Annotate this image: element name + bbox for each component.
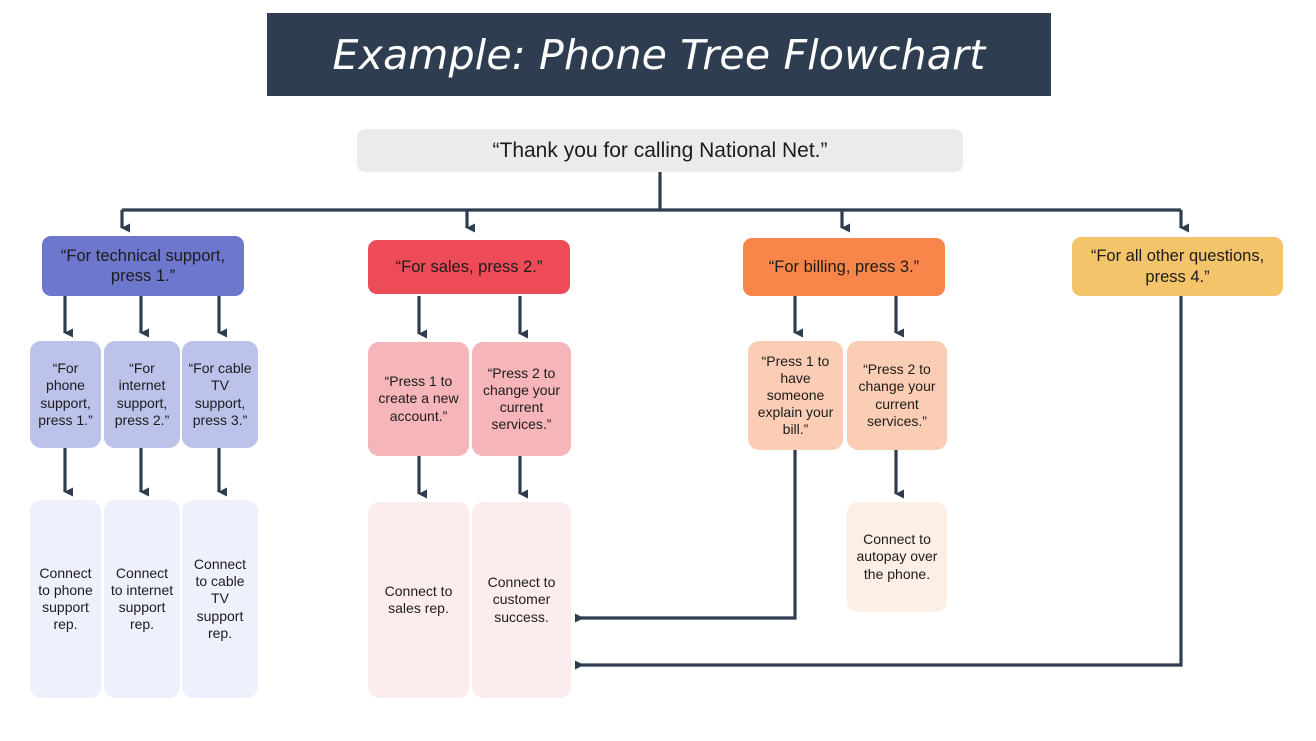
option-node-internet-support[interactable]: “For internet support, press 2.”	[104, 341, 180, 448]
branch-label-other-questions: “For all other questions, press 4.”	[1078, 246, 1277, 286]
outcome-node-sales-rep[interactable]: Connect to sales rep.	[368, 502, 469, 698]
outcome-label-sales-rep: Connect to sales rep.	[374, 583, 463, 617]
option-label-new-account: “Press 1 to create a new account.”	[374, 373, 463, 424]
option-node-new-account[interactable]: “Press 1 to create a new account.”	[368, 342, 469, 456]
outcome-node-customer-success[interactable]: Connect to customer success.	[472, 502, 571, 698]
root-node-label: “Thank you for calling National Net.”	[363, 138, 957, 164]
option-node-cable-tv-support[interactable]: “For cable TV support, press 3.”	[182, 341, 258, 448]
branch-label-technical-support: “For technical support, press 1.”	[48, 246, 238, 286]
option-node-explain-bill[interactable]: “Press 1 to have someone explain your bi…	[748, 341, 843, 450]
outcome-label-cable-tv-support-rep: Connect to cable TV support rep.	[188, 556, 252, 641]
option-label-change-services-billing: “Press 2 to change your current services…	[853, 361, 941, 429]
option-label-phone-support: “For phone support, press 1.”	[36, 360, 95, 428]
option-label-change-services-sales: “Press 2 to change your current services…	[478, 365, 565, 433]
outcome-label-phone-support-rep: Connect to phone support rep.	[36, 565, 95, 633]
option-node-change-services-sales[interactable]: “Press 2 to change your current services…	[472, 342, 571, 456]
flowchart-canvas: Example: Phone Tree Flowchart	[0, 0, 1316, 741]
option-label-explain-bill: “Press 1 to have someone explain your bi…	[754, 353, 837, 438]
branch-node-technical-support[interactable]: “For technical support, press 1.”	[42, 236, 244, 296]
outcome-label-autopay: Connect to autopay over the phone.	[853, 531, 941, 582]
outcome-node-autopay[interactable]: Connect to autopay over the phone.	[847, 502, 947, 612]
outcome-node-cable-tv-support-rep[interactable]: Connect to cable TV support rep.	[182, 500, 258, 698]
outcome-node-internet-support-rep[interactable]: Connect to internet support rep.	[104, 500, 180, 698]
branch-node-sales[interactable]: “For sales, press 2.”	[368, 240, 570, 294]
branch-node-billing[interactable]: “For billing, press 3.”	[743, 238, 945, 296]
outcome-label-customer-success: Connect to customer success.	[478, 574, 565, 625]
branch-node-other-questions[interactable]: “For all other questions, press 4.”	[1072, 237, 1283, 296]
outcome-label-internet-support-rep: Connect to internet support rep.	[110, 565, 174, 633]
option-node-change-services-billing[interactable]: “Press 2 to change your current services…	[847, 341, 947, 450]
root-node[interactable]: “Thank you for calling National Net.”	[357, 129, 963, 172]
option-node-phone-support[interactable]: “For phone support, press 1.”	[30, 341, 101, 448]
branch-label-billing: “For billing, press 3.”	[749, 257, 939, 277]
title-banner: Example: Phone Tree Flowchart	[267, 13, 1051, 96]
option-label-internet-support: “For internet support, press 2.”	[110, 360, 174, 428]
option-label-cable-tv-support: “For cable TV support, press 3.”	[188, 360, 252, 428]
outcome-node-phone-support-rep[interactable]: Connect to phone support rep.	[30, 500, 101, 698]
page-title: Example: Phone Tree Flowchart	[333, 31, 986, 79]
branch-label-sales: “For sales, press 2.”	[374, 257, 564, 277]
